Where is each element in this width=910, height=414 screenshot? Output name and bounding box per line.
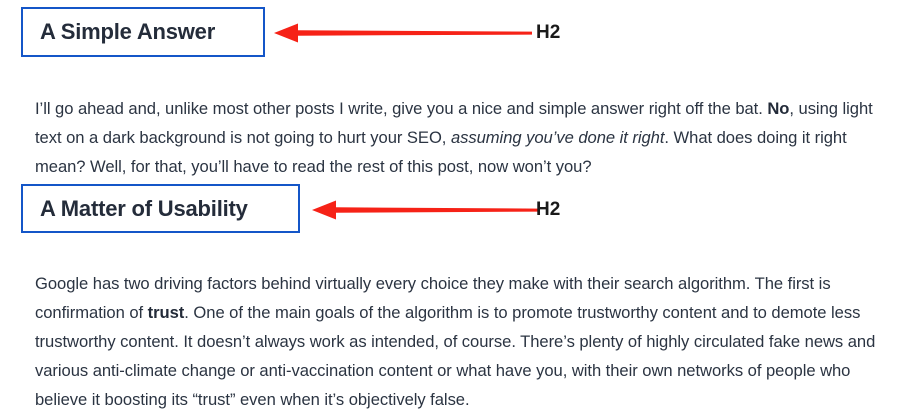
section-heading-1: A Simple Answer <box>40 21 215 43</box>
section-paragraph-1: I’ll go ahead and, unlike most other pos… <box>35 94 885 181</box>
annotation-label-h2-2: H2 <box>536 200 560 219</box>
heading-annotation-box-2: A Matter of Usability <box>21 184 300 233</box>
annotation-arrow-left-2 <box>312 199 540 221</box>
text-run: I’ll go ahead and, unlike most other pos… <box>35 99 767 118</box>
heading-annotation-box-1: A Simple Answer <box>21 7 265 57</box>
emphasis-strong: trust <box>148 303 185 322</box>
emphasis-strong: No <box>767 99 789 118</box>
section-paragraph-2: Google has two driving factors behind vi… <box>35 269 885 414</box>
section-heading-2: A Matter of Usability <box>40 198 248 220</box>
annotation-label-h2-1: H2 <box>536 23 560 42</box>
emphasis-italic: assuming you’ve done it right <box>451 128 664 147</box>
article-content: A Simple Answer H2 I’ll go ahead and, un… <box>0 0 910 414</box>
annotation-arrow-left-1 <box>274 22 532 44</box>
